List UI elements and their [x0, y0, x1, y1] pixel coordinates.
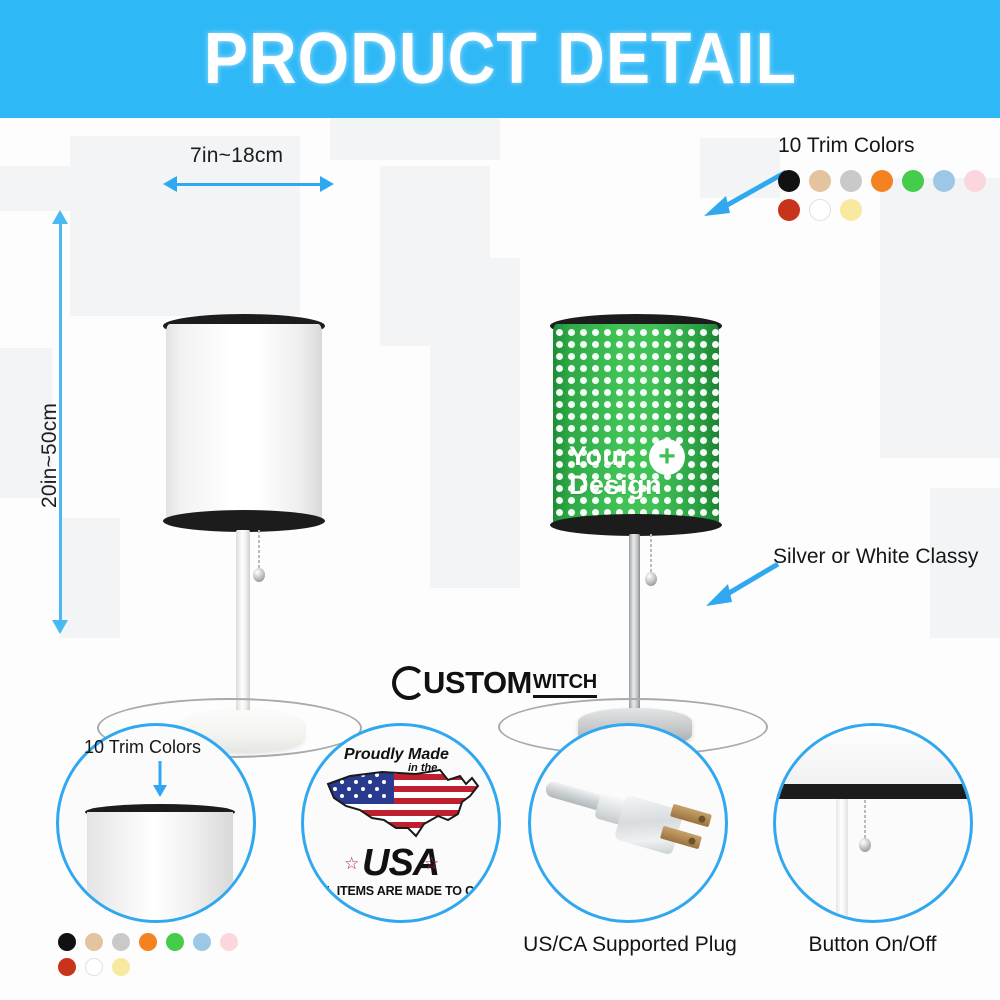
trim-swatch-light-blue[interactable] [193, 933, 211, 951]
lamp-white-pull-chain[interactable] [258, 530, 260, 572]
trim-swatch-pink[interactable] [964, 170, 986, 192]
lamp-green-trim-lower [550, 514, 722, 536]
logo-main-text: USTOM [423, 665, 532, 701]
button-chain-ball[interactable] [859, 838, 871, 852]
your-design-text: Your Design [569, 442, 662, 500]
trim-swatch-white[interactable] [809, 199, 831, 221]
your-design-line2: Design [569, 470, 662, 500]
panel-made-in-usa: Proudly Made in the [295, 715, 510, 1000]
main-showcase: 7in~18cm 20in~50cm [0, 118, 1000, 718]
page-title: PRODUCT DETAIL [203, 18, 796, 100]
panel-plug-caption: US/CA Supported Plug [510, 933, 750, 957]
button-detail-stem [836, 799, 848, 923]
trim-colors-swatch-row-top [778, 170, 1000, 228]
trim-swatch-black[interactable] [778, 170, 800, 192]
brand-logo: USTOM WITCH [392, 665, 597, 701]
usa-badge-circle: Proudly Made in the [301, 723, 501, 923]
trim-swatch-pink[interactable] [220, 933, 238, 951]
button-detail-trim [773, 784, 973, 799]
trim-swatch-orange[interactable] [139, 933, 157, 951]
usa-map-flag-icon [320, 762, 488, 840]
panel-button-caption: Button On/Off [760, 933, 985, 957]
lamp-white-chain-ball[interactable] [253, 568, 265, 582]
trim-swatch-red[interactable] [58, 958, 76, 976]
button-pull-chain[interactable] [864, 800, 866, 842]
trim-swatch-tan[interactable] [809, 170, 831, 192]
trim-colors-callout-arrow [700, 166, 790, 218]
usa-star-right-icon: ☆ [424, 854, 439, 874]
lamp-green-shade: Your Design + [553, 324, 719, 528]
trim-swatch-black[interactable] [58, 933, 76, 951]
lamp-green-pull-chain[interactable] [650, 534, 652, 576]
trim-swatch-white[interactable] [85, 958, 103, 976]
trim-swatch-yellow[interactable] [112, 958, 130, 976]
trim-swatch-yellow[interactable] [840, 199, 862, 221]
logo-sub-text: WITCH [533, 671, 597, 698]
trim-swatch-orange[interactable] [871, 170, 893, 192]
panel-button-onoff: Button On/Off [765, 715, 980, 1000]
lamp-white [0, 118, 430, 658]
trim-colors-callout-label: 10 Trim Colors [778, 134, 915, 158]
logo-c-icon [392, 666, 426, 700]
base-finish-callout-label: Silver or White Classy [773, 545, 978, 569]
your-design-line1: Your [569, 441, 631, 471]
button-detail-shade [776, 726, 973, 788]
lamp-white-trim-lower [163, 510, 325, 532]
base-finish-callout-arrow [700, 556, 782, 608]
panel-trim-colors: 10 Trim Colors [48, 715, 268, 1000]
page-banner: PRODUCT DETAIL [0, 0, 1000, 118]
plug-photo-circle [528, 723, 728, 923]
panel-plug: US/CA Supported Plug [520, 715, 750, 1000]
panel-trim-colors-arrow [148, 761, 172, 799]
trim-swatch-gray[interactable] [112, 933, 130, 951]
trim-swatch-red[interactable] [778, 199, 800, 221]
trim-swatch-tan[interactable] [85, 933, 103, 951]
feature-panels: 10 Trim Colors Proudly Made in the [0, 715, 1000, 1000]
trim-colors-swatch-row-bottom [58, 933, 270, 983]
lamp-white-stem [236, 530, 250, 715]
lamp-green-chain-ball[interactable] [645, 572, 657, 586]
trim-swatch-light-blue[interactable] [933, 170, 955, 192]
lamp-green-stem [629, 534, 640, 714]
panel-trim-colors-label: 10 Trim Colors [84, 737, 201, 758]
usa-badge-subtext: ALL ITEMS ARE MADE TO ORDER! [310, 884, 501, 898]
trim-swatch-green[interactable] [902, 170, 924, 192]
trim-swatch-green[interactable] [166, 933, 184, 951]
button-photo-circle [773, 723, 973, 923]
trim-swatch-gray[interactable] [840, 170, 862, 192]
usa-star-left-icon: ☆ [344, 854, 359, 874]
product-detail-page: PRODUCT DETAIL 7in~18cm 20in~50cm [0, 0, 1000, 1000]
add-design-plus-icon[interactable]: + [649, 439, 685, 475]
